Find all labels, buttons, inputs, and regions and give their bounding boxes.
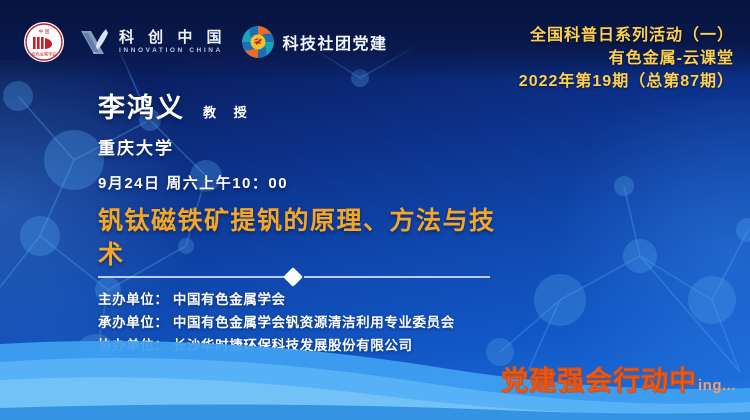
party-building-logo: 科技社团党建 [241,25,388,59]
divider-line-left [98,276,284,278]
speaker-organization: 重庆大学 [98,134,730,159]
party-slogan-cn: 党建强会行动中 [501,359,697,398]
speaker-title: 教 授 [203,102,254,121]
event-datetime: 9月24日 周六上午10：00 [98,172,730,193]
innovation-china-mark-icon [78,25,112,59]
svg-text:中 国: 中 国 [39,28,50,35]
party-building-label: 科技社团党建 [283,30,388,54]
event-series-line-2: 有色金属-云课堂 [519,47,734,70]
organizer-undertaker: 承办单位： 中国有色金属学会钒资源清洁利用专业委员会 [98,311,455,334]
diamond-divider [98,270,490,284]
organizer-list: 主办单位： 中国有色金属学会 承办单位： 中国有色金属学会钒资源清洁利用专业委员… [98,288,455,358]
innovation-china-cn-label: 科 创 中 国 [119,30,227,45]
speaker-block: 李鸿义 教 授 [98,86,730,125]
event-series-header: 全国科普日系列活动（一） 有色金属-云课堂 2022年第19期（总第87期） [519,24,734,94]
lecture-title: 钒钛磁铁矿提钒的原理、方法与技术 [98,204,518,272]
event-series-line-1: 全国科普日系列活动（一） [519,24,734,47]
diamond-icon [283,267,303,287]
svg-text:有色金属学会: 有色金属学会 [32,51,57,57]
logo-group: 中 国 有色金属学会 科 创 中 国 INNOVATION CHINA [24,22,388,62]
cnia-emblem-icon: 中 国 有色金属学会 [25,23,63,61]
main-content: 李鸿义 教 授 重庆大学 9月24日 周六上午10：00 钒钛磁铁矿提钒的原理、… [98,86,730,272]
party-slogan: 党建强会行动中 ing... [501,359,736,398]
party-slogan-en: ing... [698,377,736,394]
party-swirl-icon [241,25,275,59]
innovation-china-logo: 科 创 中 国 INNOVATION CHINA [78,25,227,59]
divider-line-right [304,276,490,278]
organizer-coorganizer: 协办单位： 长沙华时捷环保科技发展股份有限公司 [98,334,455,357]
innovation-china-en-label: INNOVATION CHINA [119,48,227,55]
organizer-host: 主办单位： 中国有色金属学会 [98,288,455,311]
speaker-name: 李鸿义 [98,86,185,125]
cnia-logo: 中 国 有色金属学会 [24,22,64,62]
webinar-poster: 中 国 有色金属学会 科 创 中 国 INNOVATION CHINA [0,0,750,420]
